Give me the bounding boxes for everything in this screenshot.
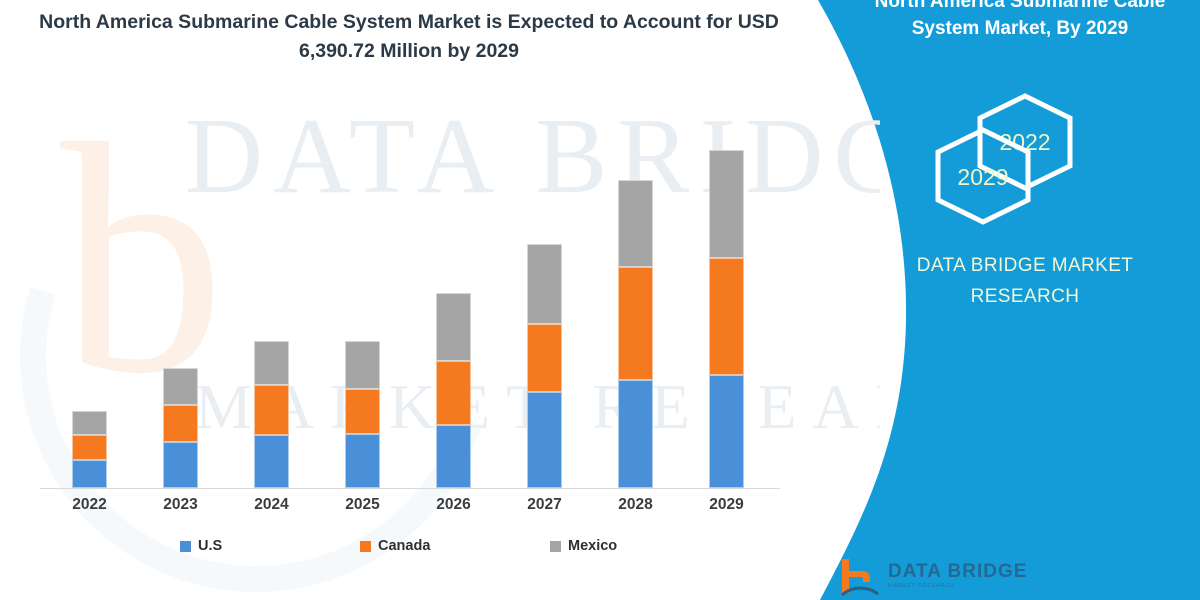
bar-segment-ca-2027 [527, 324, 562, 392]
x-axis-label-2025: 2025 [323, 496, 403, 514]
x-axis-label-2029: 2029 [687, 496, 767, 514]
bar-segment-us-2028 [618, 380, 653, 488]
x-axis-label-2028: 2028 [596, 496, 676, 514]
bar-segment-ca-2029 [709, 258, 744, 375]
plot-area: 20222023202420252026202720282029 [0, 0, 820, 540]
bar-2025 [345, 341, 380, 488]
legend-label: U.S [198, 538, 222, 554]
legend-label: Canada [378, 538, 430, 554]
bar-2023 [163, 368, 198, 488]
bar-segment-mx-2024 [254, 341, 289, 385]
right-panel-brand: DATA BRIDGE MARKET RESEARCH [880, 250, 1170, 312]
bar-segment-us-2024 [254, 435, 289, 488]
bar-2026 [436, 293, 471, 488]
brand-line-2: RESEARCH [880, 281, 1170, 312]
bar-segment-us-2027 [527, 392, 562, 488]
bar-segment-ca-2022 [72, 435, 107, 460]
hexagon-group: 2022 2029 [925, 88, 1115, 233]
logo-name: DATA BRIDGE [888, 562, 1027, 581]
bar-segment-ca-2023 [163, 405, 198, 442]
logo-text: DATA BRIDGE MARKET RESEARCH [888, 562, 1027, 590]
bar-segment-us-2022 [72, 460, 107, 488]
logo-subtitle: MARKET RESEARCH [888, 584, 1027, 590]
x-axis-label-2026: 2026 [414, 496, 494, 514]
legend-item-us[interactable]: U.S [180, 538, 222, 554]
x-axis-label-2022: 2022 [50, 496, 130, 514]
x-axis-label-2024: 2024 [232, 496, 312, 514]
legend-item-canada[interactable]: Canada [360, 538, 430, 554]
bar-segment-ca-2025 [345, 389, 380, 434]
legend-swatch-icon [180, 541, 191, 552]
bar-segment-mx-2028 [618, 180, 653, 267]
brand-line-1: DATA BRIDGE MARKET [880, 250, 1170, 281]
legend-label: Mexico [568, 538, 617, 554]
bar-2024 [254, 341, 289, 488]
bar-segment-ca-2024 [254, 385, 289, 435]
data-bridge-logo: DATA BRIDGE MARKET RESEARCH [838, 552, 1068, 600]
bar-segment-us-2029 [709, 375, 744, 488]
legend-swatch-icon [360, 541, 371, 552]
bar-segment-mx-2025 [345, 341, 380, 389]
bar-segment-mx-2023 [163, 368, 198, 405]
bar-segment-us-2026 [436, 425, 471, 488]
bar-segment-mx-2022 [72, 411, 107, 435]
bar-segment-mx-2026 [436, 293, 471, 361]
bar-segment-us-2023 [163, 442, 198, 488]
bar-2028 [618, 180, 653, 488]
legend-item-mexico[interactable]: Mexico [550, 538, 617, 554]
x-axis-line [40, 488, 780, 489]
chart-legend: U.SCanadaMexico [40, 538, 780, 568]
bar-2029 [709, 150, 744, 488]
stacked-bar-chart: 20222023202420252026202720282029 [0, 0, 820, 540]
bar-segment-ca-2026 [436, 361, 471, 425]
bar-segment-us-2025 [345, 434, 380, 488]
bar-segment-mx-2029 [709, 150, 744, 258]
logo-mark-icon [838, 555, 880, 597]
right-panel-title: North America Submarine Cable System Mar… [855, 0, 1185, 42]
x-axis-label-2023: 2023 [141, 496, 221, 514]
x-axis-label-2027: 2027 [505, 496, 585, 514]
legend-swatch-icon [550, 541, 561, 552]
bar-2022 [72, 411, 107, 488]
bar-segment-ca-2028 [618, 267, 653, 380]
infographic-canvas: b DATA BRIDGE MARKET RESEARCH North Amer… [0, 0, 1200, 600]
bar-segment-mx-2027 [527, 244, 562, 324]
hexagon-2029-label: 2029 [957, 164, 1008, 190]
bar-2027 [527, 244, 562, 488]
